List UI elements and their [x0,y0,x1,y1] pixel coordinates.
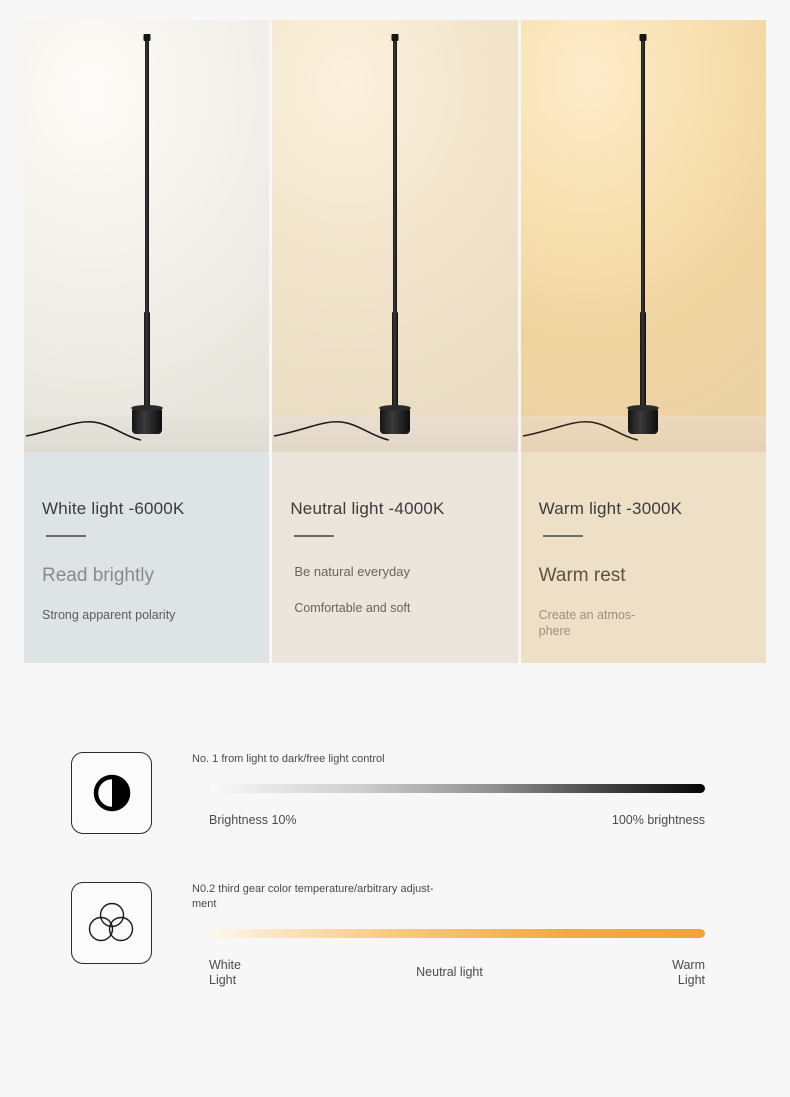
lamp-top-cap [143,34,150,41]
brightness-min-label: Brightness 10% [209,813,297,827]
color-temperature-slider[interactable] [192,924,707,942]
lamp-base [380,408,410,434]
lamp-base [628,408,658,434]
comparison-card-white[interactable]: White light -6000K Read brightly Strong … [24,20,269,663]
card-title: White light -6000K [42,500,251,517]
color-temperature-slider-track[interactable] [209,929,705,938]
lamp-photo-neutral [272,20,517,452]
lamp-top-cap [640,34,647,41]
color-temperature-max-label: WarmLight [672,958,705,988]
lamp-top-cap [391,34,398,41]
color-temperature-control-row: N0.2 third gear color temperature/arbitr… [0,882,790,988]
color-temperature-endpoint-labels: WhiteLight Neutral light WarmLight [192,958,707,988]
three-circles-icon-glyph [87,900,137,946]
lamp-photo-warm [521,20,766,452]
title-underline [294,535,334,537]
title-underline [543,535,583,537]
brightness-max-label: 100% brightness [612,813,705,827]
card-title: Neutral light -4000K [290,500,499,517]
lamp-controls: No. 1 from light to dark/free light cont… [0,700,790,988]
color-temperature-caption: N0.2 third gear color temperature/arbitr… [192,882,442,912]
title-underline [46,535,86,537]
card-title: Warm light -3000K [539,500,748,517]
brightness-slider-group: No. 1 from light to dark/free light cont… [192,752,790,827]
card-subtitle: Warm rest [539,565,748,587]
color-temperature-slider-group: N0.2 third gear color temperature/arbitr… [192,882,790,988]
color-temperature-min-label: WhiteLight [209,958,241,988]
card-note: Comfortable and soft [290,601,499,617]
brightness-endpoint-labels: Brightness 10% 100% brightness [192,813,707,827]
brightness-slider-track[interactable] [209,784,705,793]
caption-neutral: Neutral light -4000K Be natural everyday… [272,452,517,663]
card-note: Create an atmos-phere [539,608,748,639]
lamp-photo-white [24,20,269,452]
floor-lamp [112,34,182,434]
floor-lamp [608,34,678,434]
caption-warm: Warm light -3000K Warm rest Create an at… [521,452,766,663]
comparison-card-warm[interactable]: Warm light -3000K Warm rest Create an at… [521,20,766,663]
card-note: Strong apparent polarity [42,608,251,624]
card-subtitle: Read brightly [42,565,251,587]
lamp-base [132,408,162,434]
card-subtitle: Be natural everyday [290,565,499,580]
light-temperature-comparison: White light -6000K Read brightly Strong … [24,20,766,663]
brightness-control-row: No. 1 from light to dark/free light cont… [0,752,790,834]
caption-white: White light -6000K Read brightly Strong … [24,452,269,663]
contrast-icon [71,752,152,834]
contrast-icon-glyph [90,771,134,815]
floor-lamp [360,34,430,434]
brightness-caption: No. 1 from light to dark/free light cont… [192,752,442,767]
color-temperature-mid-label: Neutral light [416,965,483,980]
three-circles-icon [71,882,152,964]
brightness-slider[interactable] [192,779,707,797]
comparison-card-neutral[interactable]: Neutral light -4000K Be natural everyday… [272,20,517,663]
